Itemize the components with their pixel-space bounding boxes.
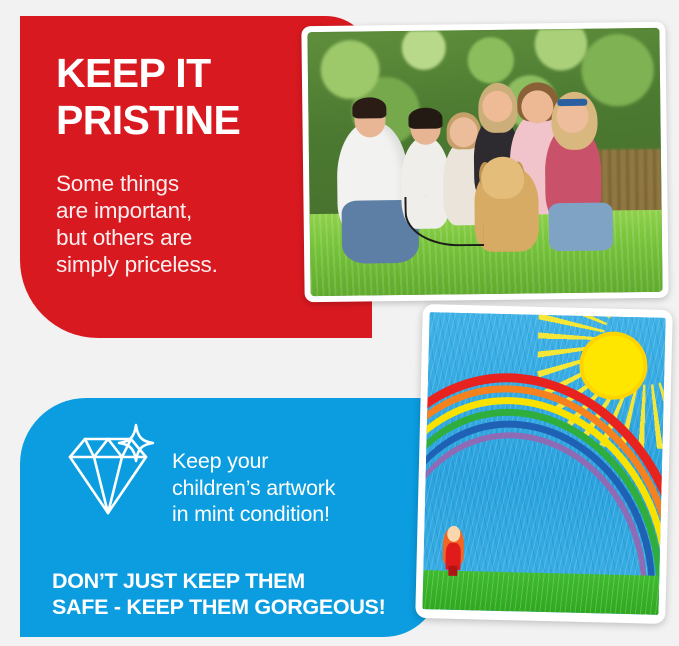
red-panel-subhead: Some things are important, but others ar… (56, 170, 321, 278)
diamond-sparkle-icon (52, 413, 164, 525)
child-drawing-frame (415, 304, 673, 624)
blue-panel-tagline: DON’T JUST KEEP THEM SAFE - KEEP THEM GO… (52, 568, 422, 620)
blue-panel-copy: Keep your children’s artwork in mint con… (172, 448, 404, 528)
photo-boy-hair (409, 107, 443, 129)
page-title: KEEP IT PRISTINE (56, 50, 326, 144)
photo-girl-two-jeans (549, 203, 613, 251)
photo-father-hair (353, 97, 387, 119)
photo-mother-head (521, 90, 553, 123)
poster-canvas: KEEP IT PRISTINE Some things are importa… (0, 0, 679, 646)
family-photo-image (307, 28, 662, 296)
photo-dog-head (481, 156, 524, 199)
drawing-girl-legs (448, 566, 457, 576)
photo-girl-two-headband (557, 99, 587, 106)
drawing-girl-face (447, 525, 461, 541)
family-photo-frame (301, 22, 668, 302)
drawing-grass (422, 570, 659, 614)
child-drawing-image (422, 312, 665, 615)
